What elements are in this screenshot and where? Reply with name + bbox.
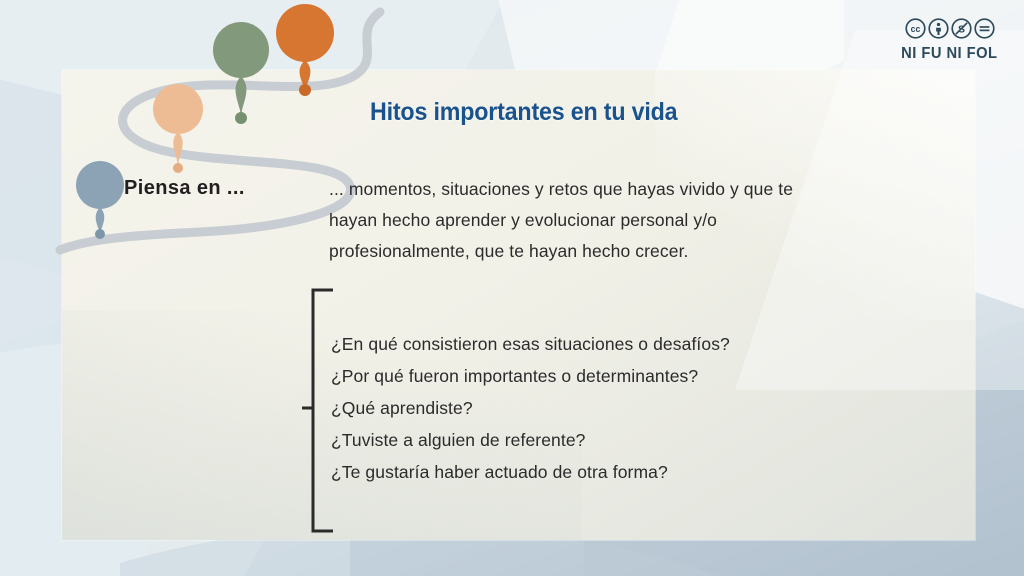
svg-text:cc: cc: [910, 24, 920, 34]
list-bracket-icon: [300, 288, 334, 533]
list-item: ¿Tuviste a alguien de referente?: [331, 424, 730, 456]
pin-blue: [72, 160, 128, 250]
creative-commons-icon-row: cc S: [897, 18, 1002, 44]
list-item: ¿En qué consistieron esas situaciones o …: [331, 328, 730, 360]
cc-nd-equals-icon: [974, 18, 995, 44]
cc-icon: cc: [905, 18, 926, 44]
pin-peach: [148, 82, 208, 177]
body-line-3: profesionalmente, que te hayan hecho cre…: [329, 236, 894, 267]
pin-green: [208, 20, 274, 130]
logo: cc S: [897, 18, 1002, 63]
list-item: ¿Qué aprendiste?: [331, 392, 730, 424]
pin-orange: [272, 3, 338, 103]
slide-canvas: cc S: [0, 0, 1024, 576]
cc-by-person-icon: [928, 18, 949, 44]
body-paragraph: ... momentos, situaciones y retos que ha…: [329, 174, 894, 267]
question-list: ¿En qué consistieron esas situaciones o …: [331, 328, 730, 488]
cc-nc-crossed-dollar-icon: S: [951, 18, 972, 44]
body-line-1: ... momentos, situaciones y retos que ha…: [329, 174, 894, 205]
page-title: Hitos importantes en tu vida: [370, 98, 677, 127]
logo-text: NI FU NI FOL: [902, 45, 998, 63]
think-prompt-label: Piensa en ...: [124, 177, 245, 200]
list-item: ¿Por qué fueron importantes o determinan…: [331, 360, 730, 392]
list-item: ¿Te gustaría haber actuado de otra forma…: [331, 456, 730, 488]
body-line-2: hayan hecho aprender y evolucionar perso…: [329, 205, 894, 236]
